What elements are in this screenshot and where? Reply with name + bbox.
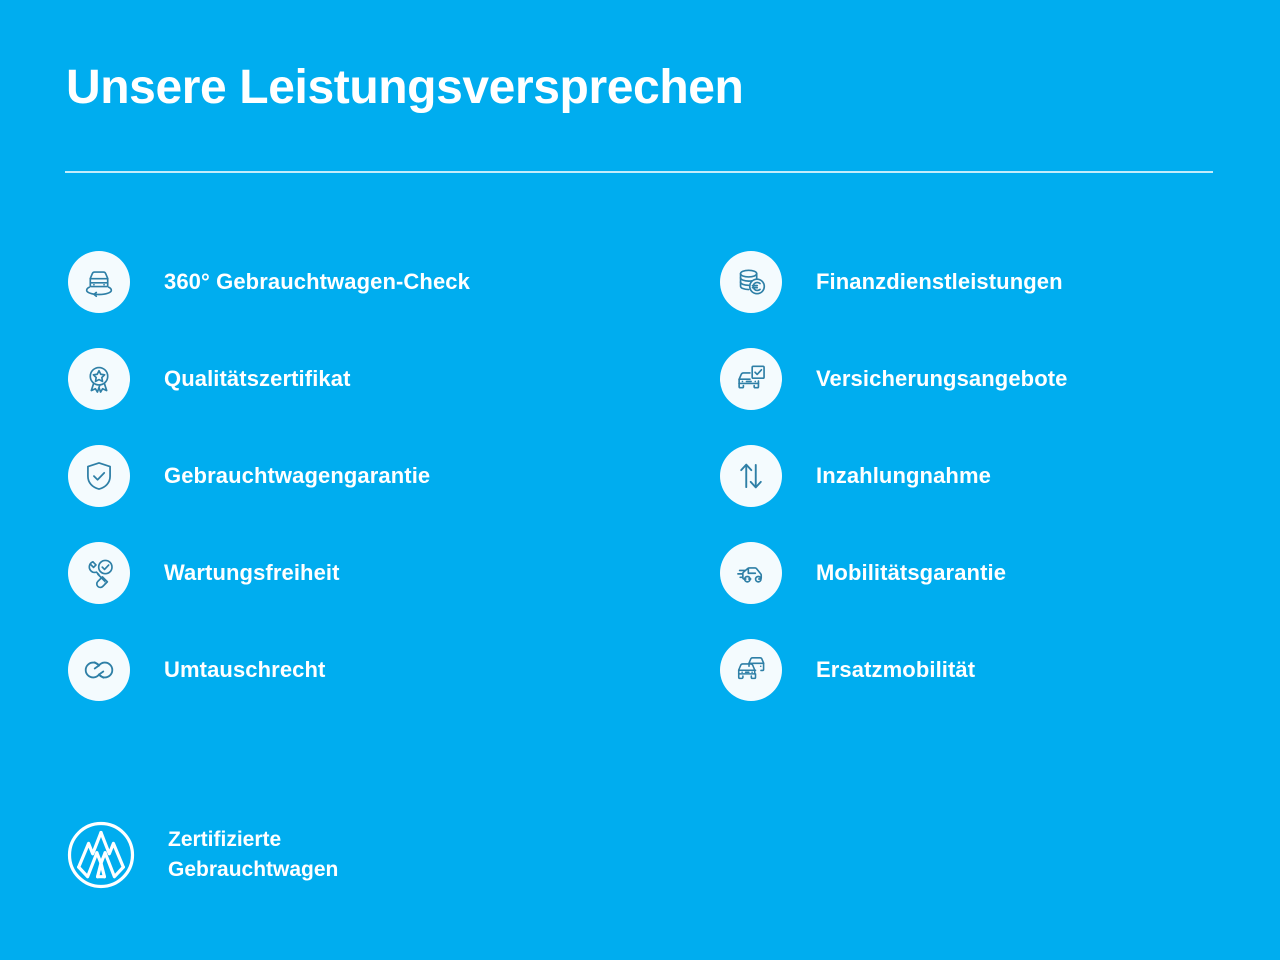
brand-text: Zertifizierte Gebrauchtwagen	[168, 825, 338, 885]
title-divider	[65, 171, 1213, 173]
promise-label: Qualitätszertifikat	[164, 366, 351, 392]
promise-item[interactable]: Versicherungsangebote	[720, 347, 1068, 411]
brand-footer: Zertifizierte Gebrauchtwagen	[66, 820, 338, 890]
page-title: Unsere Leistungsversprechen	[66, 60, 743, 115]
promise-label: Versicherungsangebote	[816, 366, 1068, 392]
promise-label: Umtauschrecht	[164, 657, 325, 683]
vw-logo-icon	[66, 820, 136, 890]
promise-label: Wartungsfreiheit	[164, 560, 340, 586]
promise-item[interactable]: Inzahlungnahme	[720, 444, 1068, 508]
promise-item[interactable]: Umtauschrecht	[68, 638, 470, 702]
van-check-icon	[720, 542, 782, 604]
promise-label: 360° Gebrauchtwagen-Check	[164, 269, 470, 295]
coins-euro-icon	[720, 251, 782, 313]
arrows-up-down-icon	[720, 445, 782, 507]
two-cars-icon	[720, 639, 782, 701]
brand-text-line1: Zertifizierte	[168, 828, 281, 851]
promise-item[interactable]: Ersatzmobilität	[720, 638, 1068, 702]
promise-page: Unsere Leistungsversprechen 360	[0, 0, 1280, 960]
promise-item[interactable]: Mobilitätsgarantie	[720, 541, 1068, 605]
promise-label: Finanzdienstleistungen	[816, 269, 1063, 295]
promise-item[interactable]: Gebrauchtwagengarantie	[68, 444, 470, 508]
promise-item[interactable]: 360° Gebrauchtwagen-Check	[68, 250, 470, 314]
wrench-check-icon	[68, 542, 130, 604]
award-rosette-icon	[68, 348, 130, 410]
promise-column-right: Finanzdienstleistungen	[720, 250, 1068, 735]
exchange-arrows-icon	[68, 639, 130, 701]
promise-label: Inzahlungnahme	[816, 463, 991, 489]
promise-item[interactable]: Qualitätszertifikat	[68, 347, 470, 411]
car-360-check-icon	[68, 251, 130, 313]
promise-item[interactable]: Wartungsfreiheit	[68, 541, 470, 605]
shield-check-icon	[68, 445, 130, 507]
promise-label: Mobilitätsgarantie	[816, 560, 1006, 586]
promise-item[interactable]: Finanzdienstleistungen	[720, 250, 1068, 314]
car-document-check-icon	[720, 348, 782, 410]
brand-text-line2: Gebrauchtwagen	[168, 858, 338, 881]
promise-label: Gebrauchtwagengarantie	[164, 463, 430, 489]
promise-column-left: 360° Gebrauchtwagen-Check Qualitätszerti…	[68, 250, 470, 735]
promise-label: Ersatzmobilität	[816, 657, 975, 683]
